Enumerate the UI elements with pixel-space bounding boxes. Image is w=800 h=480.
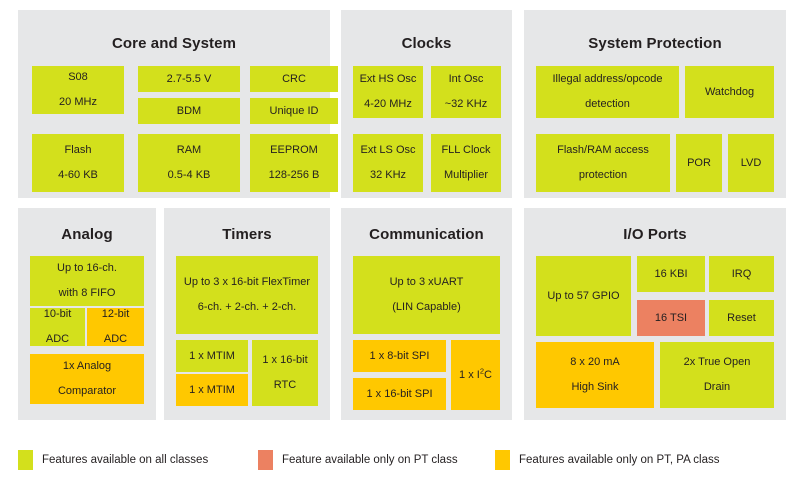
block-ram: RAM 0.5-4 KB [138,134,240,192]
block-flash-ram-access-protection: Flash/RAM access protection [536,134,670,192]
block-12-bit-adc: 12-bit ADC [87,308,144,346]
block-10-bit-adc: 10-bit ADC [30,308,85,346]
panel-system-protection: System Protection Illegal address/opcode… [524,10,786,198]
block-irq: IRQ [709,256,774,292]
legend-swatch-green [18,450,33,470]
block-mtim-2: 1 x MTIM [176,374,248,406]
panel-title-timers: Timers [164,226,330,243]
block-gpio: Up to 57 GPIO [536,256,631,336]
legend: Features available on all classes Featur… [0,444,800,480]
block-kbi: 16 KBI [637,256,705,292]
block-tsi: 16 TSI [637,300,705,336]
block-analog-comparator: 1x Analog Comparator [30,354,144,404]
block-watchdog: Watchdog [685,66,774,118]
block-fll-clock-multiplier: FLL Clock Multiplier [431,134,501,192]
block-voltage-range: 2.7-5.5 V [138,66,240,92]
legend-swatch-salmon [258,450,273,470]
block-unique-id: Unique ID [250,98,338,124]
block-por: POR [676,134,722,192]
panel-core-and-system: Core and System S08 20 MHz 2.7-5.5 V CRC… [18,10,330,198]
legend-swatch-amber [495,450,510,470]
block-eeprom: EEPROM 128-256 B [250,134,338,192]
legend-item-pt-class: Feature available only on PT class [258,449,458,471]
block-spi-16-bit: 1 x 16-bit SPI [353,378,446,410]
block-s08-line2: 20 MHz [34,96,122,109]
block-reset: Reset [709,300,774,336]
panel-title-core-and-system: Core and System [18,35,330,52]
legend-item-pt-pa-class: Features available only on PT, PA class [495,449,720,471]
block-up-to-16-ch-with-8-fifo: Up to 16-ch. with 8 FIFO [30,256,144,306]
panel-title-clocks: Clocks [341,35,512,52]
block-true-open-drain: 2x True Open Drain [660,342,774,408]
block-int-osc: Int Osc ~32 KHz [431,66,501,118]
block-rtc: 1 x 16-bit RTC [252,340,318,406]
block-lvd: LVD [728,134,774,192]
panel-title-communication: Communication [341,226,512,243]
panel-title-io-ports: I/O Ports [524,226,786,243]
block-mtim-1: 1 x MTIM [176,340,248,372]
block-xuart: Up to 3 xUART (LIN Capable) [353,256,500,334]
block-diagram: Core and System S08 20 MHz 2.7-5.5 V CRC… [0,0,800,480]
legend-label-all-classes: Features available on all classes [42,454,208,466]
panel-title-system-protection: System Protection [524,35,786,52]
legend-label-pt-class: Feature available only on PT class [282,454,458,466]
block-illegal-address-opcode-detection: Illegal address/opcode detection [536,66,679,118]
block-crc: CRC [250,66,338,92]
block-bdm: BDM [138,98,240,124]
panel-clocks: Clocks Ext HS Osc 4-20 MHz Int Osc ~32 K… [341,10,512,198]
panel-communication: Communication Up to 3 xUART (LIN Capable… [341,208,512,420]
block-i2c: 1 x I2C [451,340,500,410]
block-ext-hs-osc: Ext HS Osc 4-20 MHz [353,66,423,118]
block-s08-line1: S08 [34,71,122,84]
panel-io-ports: I/O Ports Up to 57 GPIO 16 KBI IRQ 16 TS… [524,208,786,420]
panel-timers: Timers Up to 3 x 16-bit FlexTimer 6-ch. … [164,208,330,420]
legend-item-all-classes: Features available on all classes [18,449,208,471]
legend-label-pt-pa-class: Features available only on PT, PA class [519,454,720,466]
block-flash: Flash 4-60 KB [32,134,124,192]
block-high-sink: 8 x 20 mA High Sink [536,342,654,408]
block-i2c-label: 1 x I2C [453,369,498,382]
block-flextimer: Up to 3 x 16-bit FlexTimer 6-ch. + 2-ch.… [176,256,318,334]
block-s08: S08 20 MHz [32,66,124,114]
panel-analog: Analog Up to 16-ch. with 8 FIFO 10-bit A… [18,208,156,420]
block-spi-8-bit: 1 x 8-bit SPI [353,340,446,372]
block-ext-ls-osc: Ext LS Osc 32 KHz [353,134,423,192]
panel-title-analog: Analog [18,226,156,243]
